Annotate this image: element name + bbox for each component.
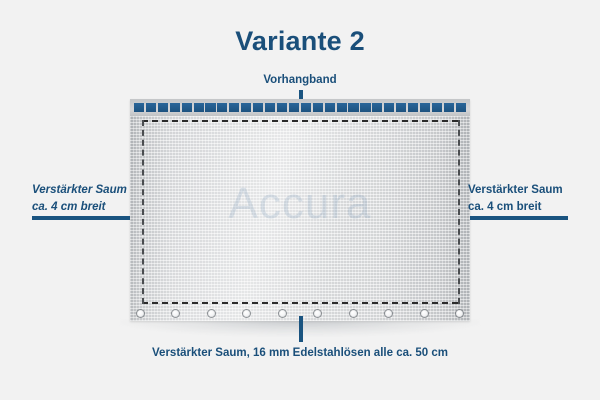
- eyelet: [279, 310, 286, 317]
- curtain-band-segment: [384, 103, 394, 112]
- curtain-band-segment: [337, 103, 347, 112]
- leader-line-left: [32, 216, 130, 220]
- curtain-band-segment: [408, 103, 418, 112]
- eyelet: [208, 310, 215, 317]
- curtain-band-segment: [170, 103, 180, 112]
- watermark: Accura: [130, 179, 470, 229]
- label-left-seam-line2: ca. 4 cm breit: [32, 199, 127, 216]
- eyelet: [456, 310, 463, 317]
- fabric-weave-texture: [130, 99, 470, 321]
- curtain-band-segment: [432, 103, 442, 112]
- curtain-band-segment: [158, 103, 168, 112]
- tarp-body: Accura: [130, 99, 470, 321]
- fabric-sheen: [130, 99, 470, 321]
- curtain-band-segment: [313, 103, 323, 112]
- curtain-band-segment: [360, 103, 370, 112]
- curtain-band-segment: [265, 103, 275, 112]
- seam-line-right: [458, 120, 460, 304]
- curtain-band-segment: [396, 103, 406, 112]
- label-right-seam-line2: ca. 4 cm breit: [468, 199, 563, 216]
- label-bottom-seam-eyelets: Verstärkter Saum, 16 mm Edelstahlösen al…: [0, 347, 600, 359]
- curtain-band-segment: [253, 103, 263, 112]
- eyelet: [172, 310, 179, 317]
- curtain-band-segment: [456, 103, 466, 112]
- eyelet: [314, 310, 321, 317]
- curtain-band: [130, 99, 470, 116]
- leader-line-right: [470, 216, 568, 220]
- label-left-seam-line1: Verstärkter Saum: [32, 182, 127, 199]
- eyelet: [243, 310, 250, 317]
- eyelet: [385, 310, 392, 317]
- curtain-band-segment: [146, 103, 156, 112]
- eyelet: [350, 310, 357, 317]
- curtain-band-segment: [134, 103, 144, 112]
- label-right-seam-line1: Verstärkter Saum: [468, 182, 563, 199]
- eyelet: [137, 310, 144, 317]
- curtain-band-segment: [205, 103, 215, 112]
- label-left-seam: Verstärkter Saum ca. 4 cm breit: [32, 182, 127, 215]
- curtain-band-segment: [217, 103, 227, 112]
- page-title: Variante 2: [0, 26, 600, 57]
- curtain-band-segment: [182, 103, 192, 112]
- curtain-band-segment: [241, 103, 251, 112]
- seam-line-left: [142, 120, 144, 304]
- curtain-band-segment: [194, 103, 204, 112]
- curtain-band-segment: [348, 103, 358, 112]
- curtain-band-segment: [289, 103, 299, 112]
- label-vorhangband: Vorhangband: [0, 74, 600, 86]
- curtain-band-segment: [301, 103, 311, 112]
- curtain-band-segment: [325, 103, 335, 112]
- curtain-band-segment: [420, 103, 430, 112]
- curtain-band-segment: [229, 103, 239, 112]
- curtain-band-segment: [444, 103, 454, 112]
- leader-line-bottom: [299, 316, 303, 342]
- curtain-band-segment: [277, 103, 287, 112]
- curtain-band-segment: [372, 103, 382, 112]
- seam-line-top: [142, 120, 458, 122]
- label-right-seam: Verstärkter Saum ca. 4 cm breit: [468, 182, 563, 215]
- seam-line-bottom: [142, 302, 458, 304]
- diagram-canvas: Variante 2 Vorhangband Accura Verstärkte…: [0, 0, 600, 400]
- eyelet: [421, 310, 428, 317]
